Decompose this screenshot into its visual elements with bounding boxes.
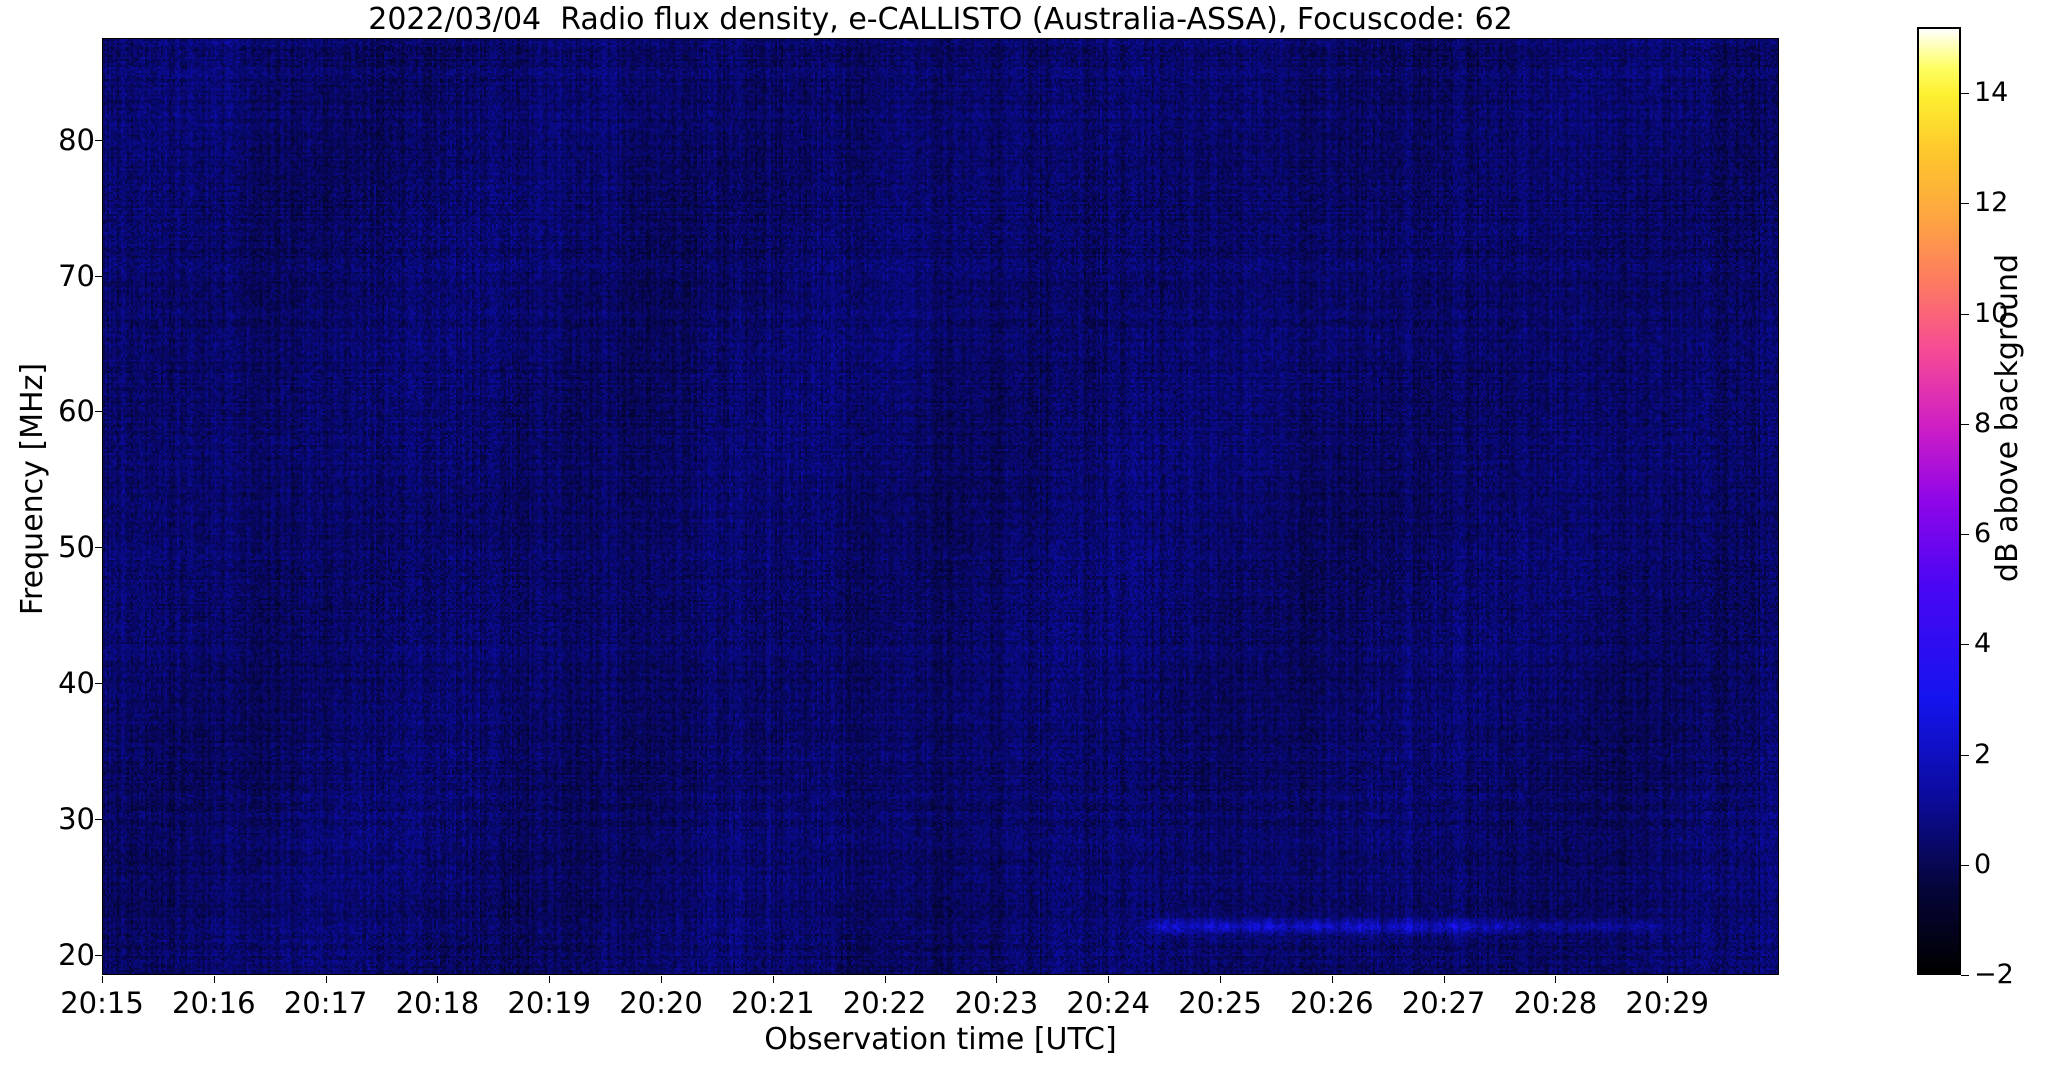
colorbar-tick bbox=[1961, 755, 1969, 756]
x-tick-label: 20:23 bbox=[955, 986, 1039, 1020]
colorbar-tick-label: 4 bbox=[1974, 628, 1991, 660]
colorbar-label: dB above background bbox=[1990, 18, 2026, 818]
x-tick-label: 20:25 bbox=[1178, 986, 1262, 1020]
x-tick bbox=[1332, 976, 1333, 983]
colorbar-tick bbox=[1961, 203, 1969, 204]
x-tick-label: 20:28 bbox=[1514, 986, 1598, 1020]
x-tick bbox=[773, 976, 774, 983]
x-tick-label: 20:17 bbox=[284, 986, 368, 1020]
x-tick-label: 20:19 bbox=[507, 986, 591, 1020]
x-tick bbox=[549, 976, 550, 983]
x-tick-label: 20:26 bbox=[1290, 986, 1374, 1020]
y-tick bbox=[95, 411, 102, 412]
x-tick bbox=[1555, 976, 1556, 983]
colorbar-tick bbox=[1961, 424, 1969, 425]
x-tick bbox=[102, 976, 103, 983]
x-tick bbox=[996, 976, 997, 983]
x-tick-label: 20:18 bbox=[396, 986, 480, 1020]
x-tick-label: 20:22 bbox=[843, 986, 927, 1020]
colorbar-tick-label: 2 bbox=[1974, 739, 1991, 771]
x-tick-label: 20:24 bbox=[1066, 986, 1150, 1020]
colorbar-tick-label: −2 bbox=[1974, 959, 2014, 991]
y-tick-label: 80 bbox=[58, 123, 95, 157]
y-tick bbox=[95, 547, 102, 548]
colorbar-tick bbox=[1961, 314, 1969, 315]
x-tick-label: 20:21 bbox=[731, 986, 815, 1020]
y-tick bbox=[95, 955, 102, 956]
y-axis-label: Frequency [MHz] bbox=[15, 0, 51, 989]
x-tick bbox=[661, 976, 662, 983]
colorbar-tick bbox=[1961, 534, 1969, 535]
y-tick-label: 60 bbox=[58, 394, 95, 428]
chart-title: 2022/03/04 Radio flux density, e-CALLIST… bbox=[0, 2, 1881, 38]
x-tick-label: 20:20 bbox=[619, 986, 703, 1020]
y-tick bbox=[95, 140, 102, 141]
x-axis-label: Observation time [UTC] bbox=[102, 1022, 1779, 1058]
y-tick-label: 70 bbox=[58, 259, 95, 293]
colorbar-tick-label: 6 bbox=[1974, 518, 1991, 550]
x-tick bbox=[885, 976, 886, 983]
colorbar-tick bbox=[1961, 865, 1969, 866]
figure-canvas: 2022/03/04 Radio flux density, e-CALLIST… bbox=[0, 0, 2047, 1067]
x-tick-label: 20:15 bbox=[60, 986, 144, 1020]
x-tick-label: 20:16 bbox=[172, 986, 256, 1020]
spectrogram-axes[interactable] bbox=[102, 38, 1779, 975]
y-tick-label: 30 bbox=[58, 802, 95, 836]
colorbar bbox=[1917, 27, 1961, 975]
spectrogram-bitmap bbox=[103, 39, 1778, 974]
colorbar-tick bbox=[1961, 93, 1969, 94]
x-tick bbox=[1667, 976, 1668, 983]
y-tick-label: 40 bbox=[58, 666, 95, 700]
y-tick bbox=[95, 276, 102, 277]
spectrogram-image bbox=[103, 39, 1778, 974]
colorbar-tick-label: 0 bbox=[1974, 849, 1991, 881]
y-tick-label: 20 bbox=[58, 938, 95, 972]
colorbar-tick bbox=[1961, 644, 1969, 645]
x-tick-label: 20:29 bbox=[1625, 986, 1709, 1020]
x-tick bbox=[1108, 976, 1109, 983]
y-tick bbox=[95, 819, 102, 820]
colorbar-tick-label: 8 bbox=[1974, 408, 1991, 440]
colorbar-tick bbox=[1961, 975, 1969, 976]
x-tick bbox=[1444, 976, 1445, 983]
x-tick bbox=[1220, 976, 1221, 983]
y-tick-label: 50 bbox=[58, 530, 95, 564]
y-tick bbox=[95, 683, 102, 684]
x-tick-label: 20:27 bbox=[1402, 986, 1486, 1020]
x-tick bbox=[437, 976, 438, 983]
x-tick bbox=[214, 976, 215, 983]
x-tick bbox=[326, 976, 327, 983]
